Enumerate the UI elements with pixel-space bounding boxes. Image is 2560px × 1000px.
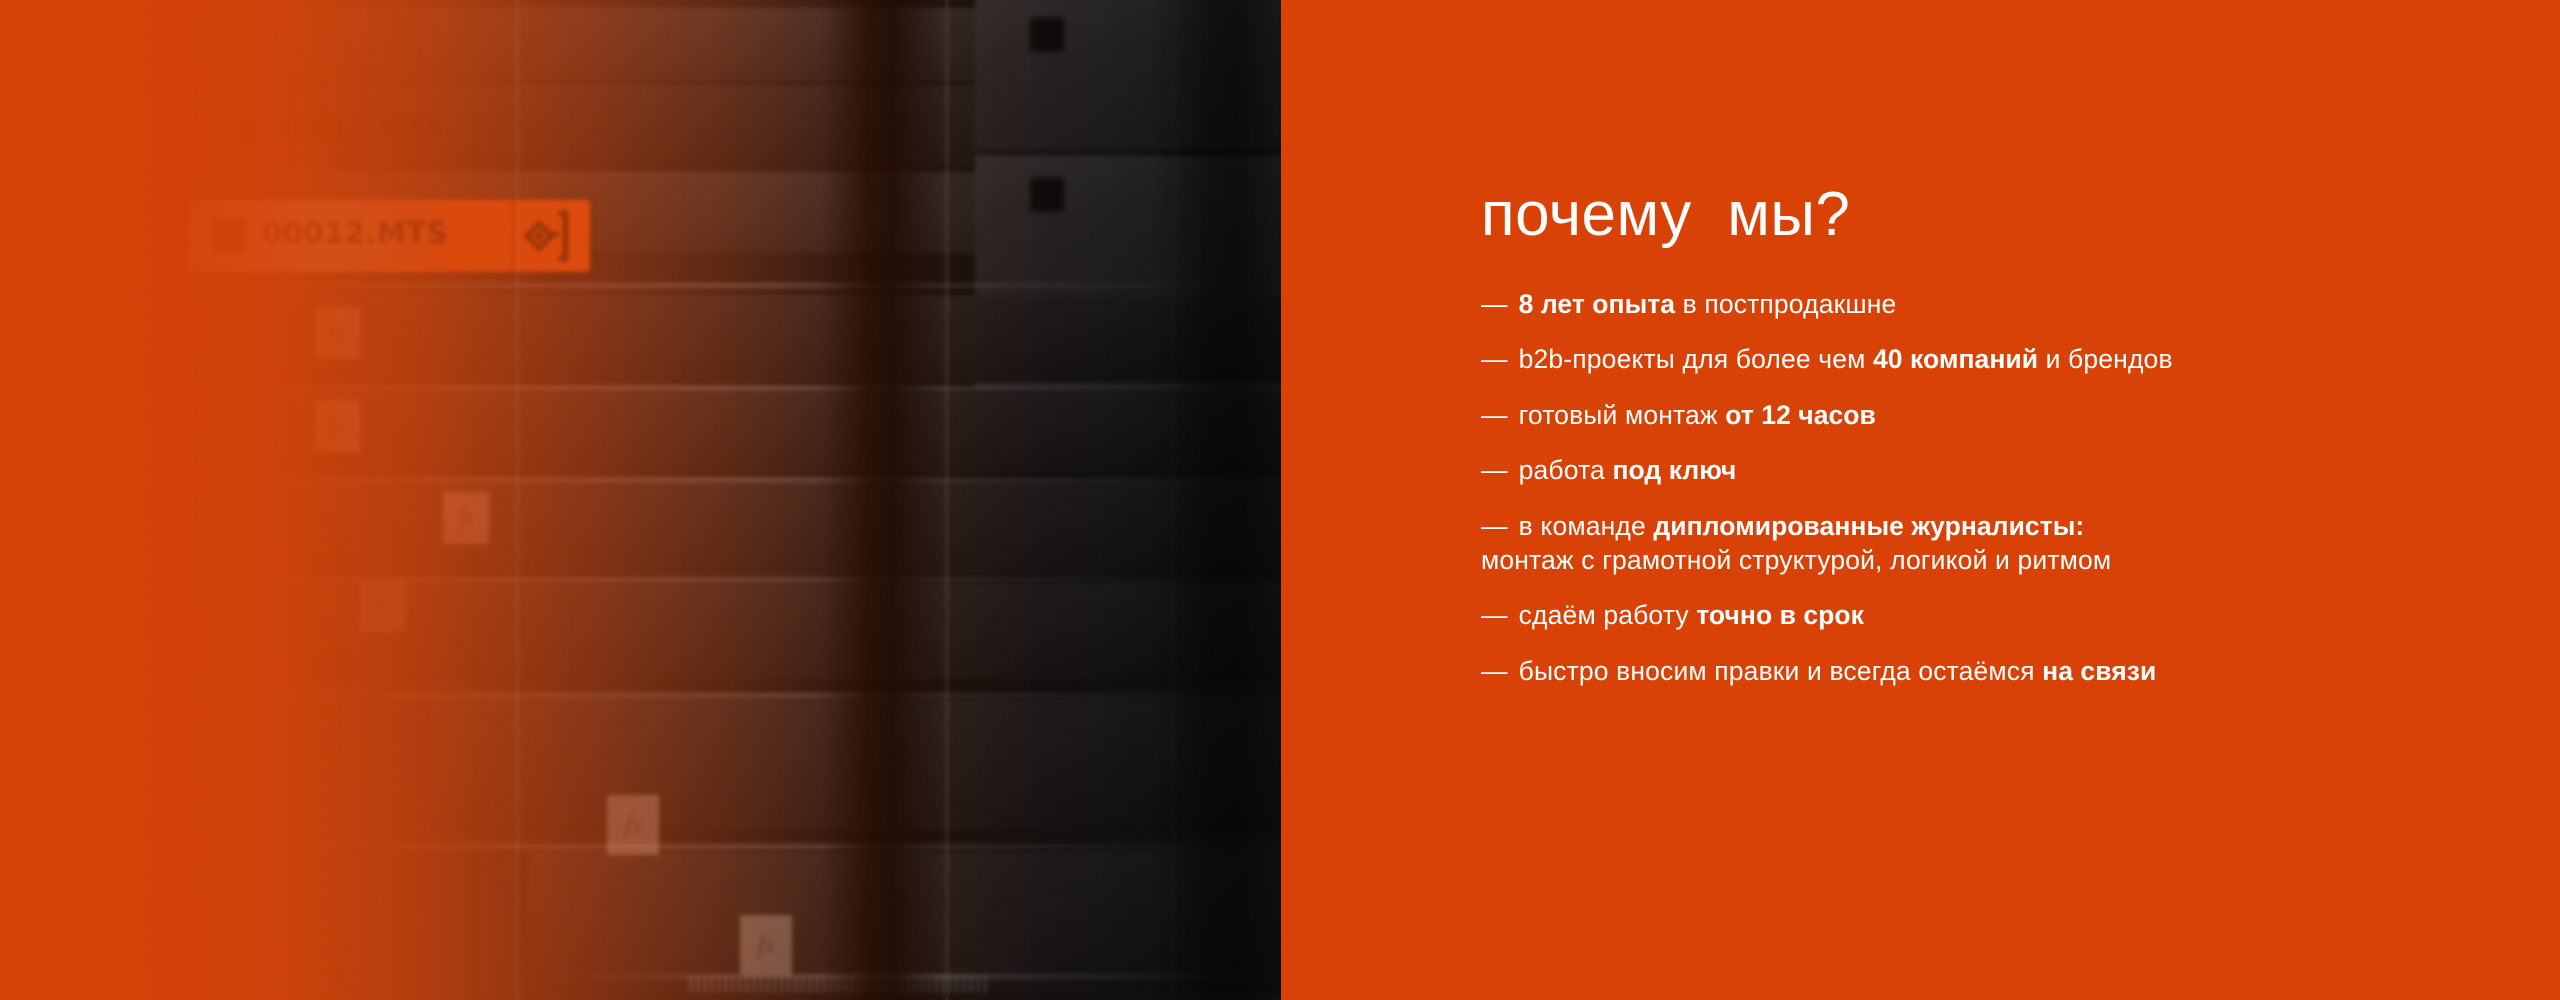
list-item-emphasis: 40 компаний (1873, 344, 2038, 374)
list-item-text: в команде (1519, 511, 1654, 541)
bullet-dash: — (1481, 454, 1508, 488)
bullet-dash: — (1481, 599, 1508, 633)
benefits-list: —8 лет опыта в постпродакшне —b2b-проект… (1481, 288, 2560, 710)
list-item-emphasis: от 12 часов (1725, 400, 1876, 430)
list-item: —в команде дипломированные журналисты: м… (1481, 510, 2560, 578)
bullet-dash: — (1481, 288, 1508, 322)
timeline-photo-panel: 00012.MTS 00012.MTS fx fx fx fx fx fx (0, 0, 1281, 1000)
list-item: —сдаём работу точно в срок (1481, 599, 2560, 633)
list-item: —готовый монтаж от 12 часов (1481, 399, 2560, 433)
list-item-emphasis: под ключ (1612, 455, 1736, 485)
page-title: почему мы? (1481, 184, 1850, 246)
list-item: —быстро вносим правки и всегда остаёмся … (1481, 655, 2560, 689)
list-item-text: быстро вносим правки и всегда остаёмся (1519, 656, 2043, 686)
bullet-dash: — (1481, 343, 1508, 377)
brand-orange-overlay (0, 0, 1281, 1000)
bullet-dash: — (1481, 510, 1508, 544)
list-item-emphasis: на связи (2042, 656, 2156, 686)
list-item-text: и брендов (2038, 344, 2173, 374)
list-item-text: работа (1519, 455, 1613, 485)
list-item-text: сдаём работу (1519, 600, 1697, 630)
bullet-dash: — (1481, 655, 1508, 689)
list-item: —b2b-проекты для более чем 40 компаний и… (1481, 343, 2560, 377)
list-item: —работа под ключ (1481, 454, 2560, 488)
list-item-emphasis: 8 лет опыта (1519, 289, 1675, 319)
bullet-dash: — (1481, 399, 1508, 433)
list-item-continuation: монтаж с грамотной структурой, логикой и… (1481, 544, 2560, 578)
list-item-emphasis: точно в срок (1696, 600, 1864, 630)
list-item-emphasis: дипломированные журналисты: (1653, 511, 2084, 541)
list-item-text: b2b-проекты для более чем (1519, 344, 1873, 374)
list-item: —8 лет опыта в постпродакшне (1481, 288, 2560, 322)
content-panel: почему мы? —8 лет опыта в постпродакшне … (1281, 0, 2560, 1000)
list-item-text: готовый монтаж (1519, 400, 1726, 430)
list-item-text: в постпродакшне (1675, 289, 1896, 319)
slide-root: 00012.MTS 00012.MTS fx fx fx fx fx fx (0, 0, 2560, 1000)
